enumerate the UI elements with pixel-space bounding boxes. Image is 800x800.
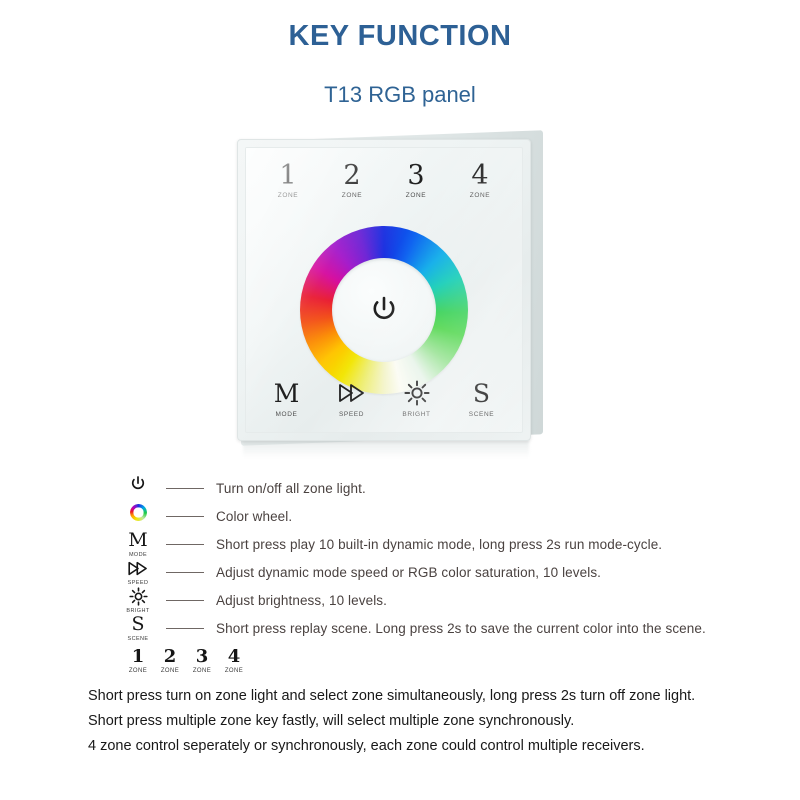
legend-text: Adjust brightness, 10 levels. — [216, 593, 387, 608]
legend-dash — [166, 544, 204, 545]
power-icon[interactable] — [368, 294, 400, 326]
zone-number: 4 — [471, 162, 488, 189]
legend-item-color-wheel: Color wheel. — [118, 502, 718, 530]
legend-list: Turn on/off all zone light. Color wheel.… — [118, 474, 718, 642]
legend-item-scene: S SCENE Short press replay scene. Long p… — [118, 614, 718, 642]
zone-number: 3 — [407, 162, 424, 189]
scene-icon: S — [473, 379, 490, 407]
legend-zone-key-4: 4 ZONE — [218, 648, 250, 674]
scene-glyph: S — [131, 614, 144, 635]
speed-caption: SPEED — [339, 411, 364, 418]
legend-item-power: Turn on/off all zone light. — [118, 474, 718, 502]
mode-icon: M — [274, 379, 300, 407]
color-wheel[interactable] — [300, 226, 468, 394]
paragraph-zone-select: Short press turn on zone light and selec… — [88, 684, 714, 709]
legend-dash — [166, 572, 204, 573]
bright-icon — [404, 379, 430, 407]
panel-zone-key-4[interactable]: 4 ZONE — [454, 162, 506, 199]
zone-caption: ZONE — [193, 668, 211, 674]
legend-text: Short press play 10 built-in dynamic mod… — [216, 537, 662, 552]
mode-glyph: M — [128, 530, 147, 551]
panel-function-key-row: M MODE SPEED — [254, 370, 514, 418]
legend-item-speed: SPEED Adjust dynamic mode speed or RGB c… — [118, 558, 718, 586]
description-paragraphs: Short press turn on zone light and selec… — [88, 684, 714, 759]
paragraph-zone-control: 4 zone control seperately or synchronous… — [88, 734, 714, 759]
panel-zone-key-1[interactable]: 1 ZONE — [262, 162, 314, 199]
zone-number: 4 — [228, 648, 241, 666]
mode-caption: MODE — [276, 411, 298, 418]
zone-caption: ZONE — [278, 192, 298, 199]
zone-caption: ZONE — [129, 668, 147, 674]
scene-caption: SCENE — [469, 411, 494, 418]
device-reflection — [243, 440, 529, 458]
legend-dash — [166, 628, 204, 629]
panel-speed-key[interactable]: SPEED — [323, 379, 381, 418]
legend-text: Turn on/off all zone light. — [216, 481, 366, 496]
zone-caption: ZONE — [406, 192, 426, 199]
panel-zone-key-row: 1 ZONE 2 ZONE 3 ZONE 4 ZONE — [256, 162, 512, 212]
panel-zone-key-2[interactable]: 2 ZONE — [326, 162, 378, 199]
zone-number: 2 — [164, 648, 177, 666]
bright-icon: BRIGHT — [118, 586, 158, 615]
zone-caption: ZONE — [470, 192, 490, 199]
zone-caption: ZONE — [161, 668, 179, 674]
legend-item-mode: M MODE Short press play 10 built-in dyna… — [118, 530, 718, 558]
zone-caption: ZONE — [342, 192, 362, 199]
zone-number: 3 — [196, 648, 209, 666]
scene-icon: S SCENE — [118, 614, 158, 643]
zone-caption: ZONE — [225, 668, 243, 674]
legend-zone-key-3: 3 ZONE — [186, 648, 218, 674]
panel-bright-key[interactable]: BRIGHT — [388, 379, 446, 418]
zone-number: 1 — [279, 162, 296, 189]
legend-zone-key-1: 1 ZONE — [122, 648, 154, 674]
bright-caption: BRIGHT — [402, 411, 430, 418]
legend-dash — [166, 600, 204, 601]
legend-zone-key-group: 1 ZONE 2 ZONE 3 ZONE 4 ZONE — [122, 648, 250, 674]
mode-icon: M MODE — [118, 530, 158, 559]
panel-face: 1 ZONE 2 ZONE 3 ZONE 4 ZONE — [245, 147, 523, 433]
speed-icon — [337, 379, 367, 407]
page-subtitle: T13 RGB panel — [0, 82, 800, 108]
legend-item-bright: BRIGHT Adjust brightness, 10 levels. — [118, 586, 718, 614]
paragraph-multi-zone: Short press multiple zone key fastly, wi… — [88, 709, 714, 734]
touch-panel-device: 1 ZONE 2 ZONE 3 ZONE 4 ZONE — [237, 139, 531, 441]
page-root: KEY FUNCTION T13 RGB panel 1 ZONE 2 ZONE… — [0, 0, 800, 800]
legend-dash — [166, 488, 204, 489]
legend-text: Adjust dynamic mode speed or RGB color s… — [216, 565, 601, 580]
panel-scene-key[interactable]: S SCENE — [453, 379, 511, 418]
legend-text: Short press replay scene. Long press 2s … — [216, 621, 706, 636]
speed-icon: SPEED — [118, 558, 158, 587]
page-title: KEY FUNCTION — [0, 20, 800, 53]
power-icon — [118, 474, 158, 503]
legend-text: Color wheel. — [216, 509, 292, 524]
legend-icon-caption: SCENE — [128, 636, 149, 643]
panel-mode-key[interactable]: M MODE — [258, 379, 316, 418]
color-wheel-icon — [118, 502, 158, 531]
color-wheel-center[interactable] — [332, 258, 436, 362]
legend-dash — [166, 516, 204, 517]
legend-zone-key-2: 2 ZONE — [154, 648, 186, 674]
zone-number: 2 — [343, 162, 360, 189]
panel-zone-key-3[interactable]: 3 ZONE — [390, 162, 442, 199]
zone-number: 1 — [132, 648, 145, 666]
